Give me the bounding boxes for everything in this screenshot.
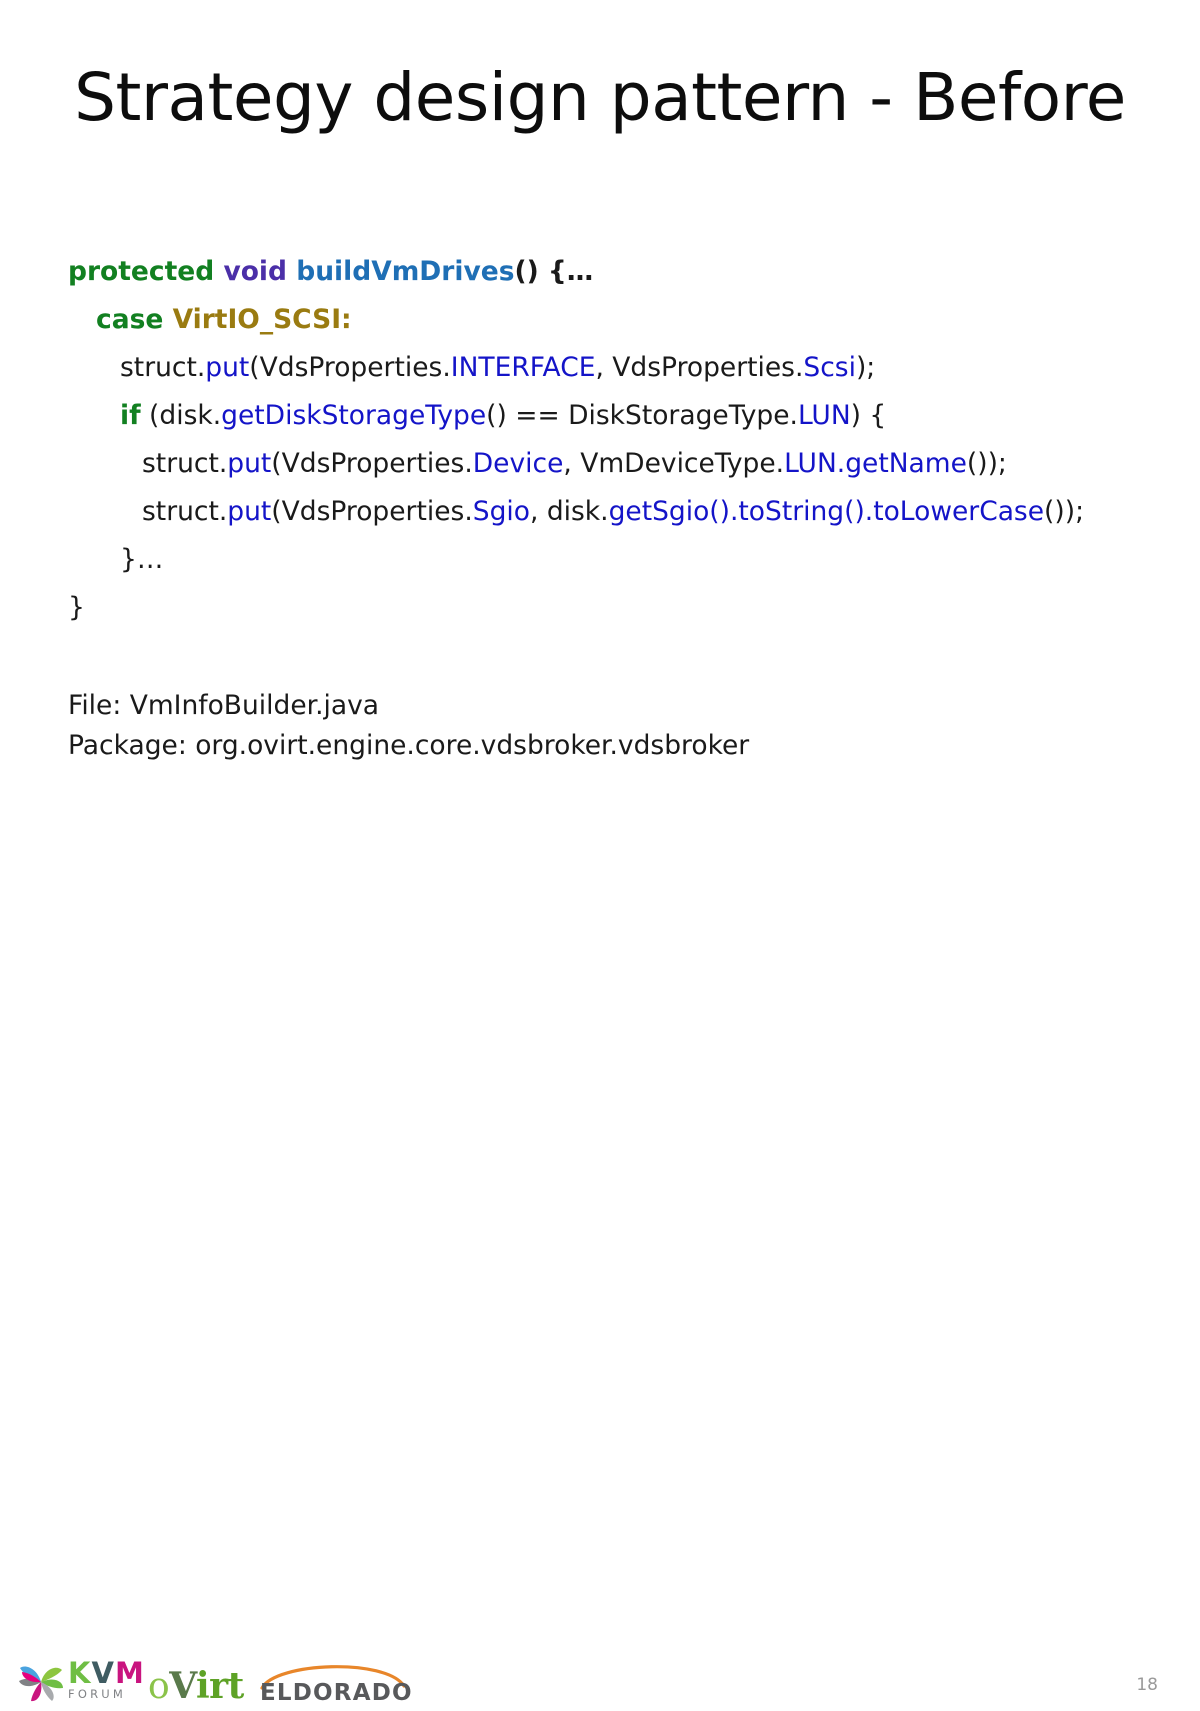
kvm-letter-m: M <box>115 1656 145 1690</box>
code-token-constant: VirtIO_SCSI: <box>173 304 352 335</box>
code-token-plain: , VmDeviceType. <box>563 448 784 479</box>
ovirt-logo: oVirt <box>148 1665 244 1707</box>
code-line: }… <box>68 536 1158 584</box>
kvm-forum-subtext: FORUM <box>68 1689 145 1701</box>
code-token-member: Scsi <box>803 352 856 383</box>
eldorado-logo: ELDORADO <box>258 1660 408 1708</box>
code-line: if (disk.getDiskStorageType() == DiskSto… <box>68 392 1158 440</box>
ovirt-wordmark: oVirt <box>148 1665 244 1708</box>
kvm-pinwheel-icon <box>16 1658 66 1706</box>
code-token-plain: (VdsProperties. <box>249 352 450 383</box>
code-token-member: getDiskStorageType <box>221 400 486 431</box>
footer: KVM FORUM oVirt ELDORADO 18 <box>0 820 1200 900</box>
code-token-keyword: case <box>96 304 163 335</box>
code-token-member: INTERFACE <box>451 352 596 383</box>
code-token-member: Sgio <box>473 496 530 527</box>
code-token-member: Device <box>473 448 564 479</box>
code-token-plain: () == DiskStorageType. <box>486 400 798 431</box>
page-number: 18 <box>1136 1675 1158 1695</box>
code-token-keyword: if <box>120 400 141 431</box>
code-token-member: getSgio().toString().toLowerCase <box>609 496 1044 527</box>
code-token-plain: }… <box>120 544 163 575</box>
code-token-plain: (VdsProperties. <box>271 496 472 527</box>
code-token-plain: , disk. <box>530 496 609 527</box>
file-info-file-line: File: VmInfoBuilder.java <box>68 686 749 726</box>
kvm-letter-v: V <box>91 1656 114 1690</box>
code-token-plain: struct. <box>120 352 205 383</box>
eldorado-wordmark: ELDORADO <box>260 1680 413 1706</box>
page-title: Strategy design pattern - Before <box>0 62 1200 133</box>
code-token-plain: ()); <box>967 448 1007 479</box>
code-token-plain: () {… <box>514 256 593 287</box>
code-token-plain <box>287 256 296 287</box>
code-token-plain: , VdsProperties. <box>595 352 803 383</box>
code-token-member: put <box>227 496 271 527</box>
code-line: struct.put(VdsProperties.Sgio, disk.getS… <box>68 488 1158 536</box>
code-token-plain: ); <box>856 352 875 383</box>
kvm-letters: KVM <box>68 1659 145 1688</box>
code-token-member: LUN.getName <box>784 448 967 479</box>
code-line: protected void buildVmDrives() {… <box>68 248 1158 296</box>
code-token-method-decl: buildVmDrives <box>296 256 514 287</box>
code-line: } <box>68 584 1158 632</box>
ovirt-letter-o: o <box>148 1666 169 1707</box>
code-token-plain: } <box>68 592 85 623</box>
code-token-plain: (disk. <box>141 400 222 431</box>
code-token-member: put <box>227 448 271 479</box>
code-token-plain: (VdsProperties. <box>271 448 472 479</box>
code-line: struct.put(VdsProperties.Device, VmDevic… <box>68 440 1158 488</box>
code-token-plain <box>163 304 172 335</box>
code-token-plain: ) { <box>851 400 887 431</box>
code-block: protected void buildVmDrives() {…case Vi… <box>68 248 1158 632</box>
ovirt-letters-irt: irt <box>196 1665 244 1707</box>
file-info-package-line: Package: org.ovirt.engine.core.vdsbroker… <box>68 726 749 766</box>
code-token-member: put <box>205 352 249 383</box>
kvm-forum-wordmark: KVM FORUM <box>68 1659 145 1701</box>
code-token-keyword: protected <box>68 256 214 287</box>
kvm-forum-logo: KVM FORUM <box>16 1658 136 1708</box>
kvm-letter-k: K <box>68 1656 91 1690</box>
code-line: struct.put(VdsProperties.INTERFACE, VdsP… <box>68 344 1158 392</box>
code-token-plain: ()); <box>1044 496 1084 527</box>
code-token-plain: struct. <box>142 496 227 527</box>
ovirt-letter-v: V <box>169 1665 196 1707</box>
file-info: File: VmInfoBuilder.java Package: org.ov… <box>68 686 749 766</box>
code-line: case VirtIO_SCSI: <box>68 296 1158 344</box>
code-token-member: LUN <box>798 400 851 431</box>
code-token-plain: struct. <box>142 448 227 479</box>
slide: Strategy design pattern - Before protect… <box>0 0 1200 900</box>
code-token-type: void <box>223 256 287 287</box>
